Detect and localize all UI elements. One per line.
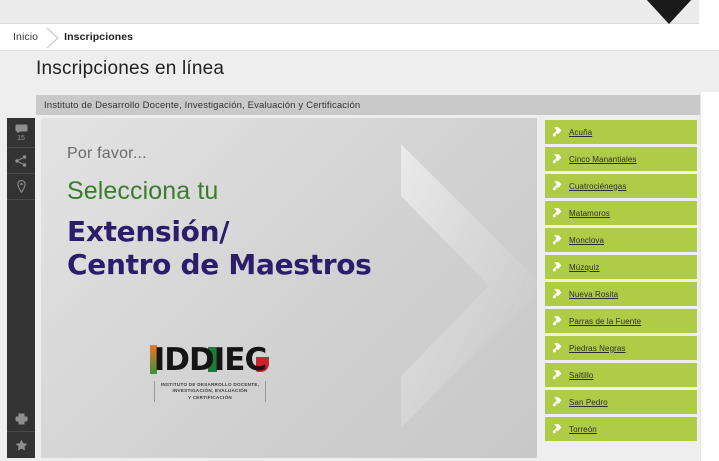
arrow-bullet-icon: [552, 180, 564, 192]
arrow-bullet-icon: [552, 342, 564, 354]
logo-wordmark-letters: IDDIEC: [154, 342, 266, 378]
banner-headline-green: Selecciona tu: [67, 177, 537, 206]
breadcrumb: Inicio Inscripciones: [0, 24, 719, 51]
link-item[interactable]: Matamoros: [545, 201, 697, 225]
breadcrumb-item-inscripciones[interactable]: Inscripciones: [64, 31, 133, 43]
logo-wordmark-text: IDDIEC: [154, 345, 266, 376]
link-item-label: Cinco Manantiales: [569, 155, 637, 164]
right-margin: [700, 92, 719, 461]
comment-count: 15: [17, 135, 25, 142]
location-pin-icon: [17, 180, 26, 193]
link-item[interactable]: Torreón: [545, 417, 697, 441]
link-item-label: Piedras Negras: [569, 344, 626, 353]
toolbar-bottom-group: [7, 406, 35, 458]
center-link-list: AcuñaCinco ManantialesCuatrociénegasMata…: [545, 120, 697, 441]
arrow-bullet-icon: [552, 288, 564, 300]
link-item-label: San Pedro: [569, 398, 608, 407]
logo-rule-left: [154, 381, 155, 402]
comment-button[interactable]: 15: [7, 118, 35, 148]
left-toolbar: 15: [7, 118, 35, 458]
printer-icon: [15, 413, 28, 425]
main-banner: Por favor... Selecciona tu Extensión/ Ce…: [41, 118, 537, 458]
top-strip-right-edge: [699, 0, 719, 24]
link-item[interactable]: Cuatrociénegas: [545, 174, 697, 198]
subtitle-bar: Instituto de Desarrollo Docente, Investi…: [36, 95, 700, 115]
share-button[interactable]: [7, 148, 35, 174]
print-button[interactable]: [7, 406, 35, 432]
link-item[interactable]: Parras de la Fuente: [545, 309, 697, 333]
arrow-bullet-icon: [552, 153, 564, 165]
banner-headline-line2: Centro de Maestros: [67, 248, 537, 282]
page-title: Inscripciones en línea: [36, 58, 224, 80]
link-item-label: Saltillo: [569, 371, 593, 380]
arrow-bullet-icon: [552, 234, 564, 246]
triangle-down-icon[interactable]: [645, 0, 693, 24]
link-item[interactable]: Cinco Manantiales: [545, 147, 697, 171]
link-item-label: Monclova: [569, 236, 604, 245]
link-item-label: Acuña: [569, 128, 592, 137]
location-button[interactable]: [7, 174, 35, 200]
logo-tagline-wrap: INSTITUTO DE DESARROLLO DOCENTE, INVESTI…: [146, 381, 274, 402]
arrow-bullet-icon: [552, 207, 564, 219]
breadcrumb-separator-icon: [44, 26, 62, 48]
link-item-label: Parras de la Fuente: [569, 317, 641, 326]
link-item[interactable]: Nueva Rosita: [545, 282, 697, 306]
arrow-bullet-icon: [552, 369, 564, 381]
star-icon: [15, 439, 28, 451]
link-item-label: Nueva Rosita: [569, 290, 618, 299]
logo-rule-right: [265, 381, 266, 402]
arrow-bullet-icon: [552, 315, 564, 327]
comment-icon: [15, 124, 28, 134]
arrow-bullet-icon: [552, 126, 564, 138]
link-item-label: Torreón: [569, 425, 597, 434]
top-strip: [0, 0, 719, 24]
breadcrumb-item-inicio[interactable]: Inicio: [13, 31, 38, 43]
link-item[interactable]: San Pedro: [545, 390, 697, 414]
logo-tagline: INSTITUTO DE DESARROLLO DOCENTE, INVESTI…: [161, 382, 259, 401]
link-item-label: Múzquiz: [569, 263, 600, 272]
link-item-label: Cuatrociénegas: [569, 182, 626, 191]
banner-text-block: Por favor... Selecciona tu Extensión/ Ce…: [41, 118, 537, 282]
link-item-label: Matamoros: [569, 209, 610, 218]
link-item[interactable]: Múzquiz: [545, 255, 697, 279]
banner-eyebrow: Por favor...: [67, 145, 537, 163]
link-item[interactable]: Acuña: [545, 120, 697, 144]
arrow-bullet-icon: [552, 423, 564, 435]
favorite-button[interactable]: [7, 432, 35, 458]
link-item[interactable]: Saltillo: [545, 363, 697, 387]
share-icon: [15, 155, 27, 167]
subtitle-text: Instituto de Desarrollo Docente, Investi…: [44, 100, 360, 111]
link-item[interactable]: Piedras Negras: [545, 336, 697, 360]
link-item[interactable]: Monclova: [545, 228, 697, 252]
banner-headline-line1: Extensión/: [67, 216, 537, 248]
arrow-bullet-icon: [552, 261, 564, 273]
arrow-bullet-icon: [552, 396, 564, 408]
logo-wordmark-wrap: IDDIEC: [146, 340, 274, 376]
page-root: Inicio Inscripciones Inscripciones en lí…: [0, 0, 719, 461]
iddiec-logo: IDDIEC INSTITUTO DE DESARROLLO DOCENTE, …: [146, 340, 274, 402]
